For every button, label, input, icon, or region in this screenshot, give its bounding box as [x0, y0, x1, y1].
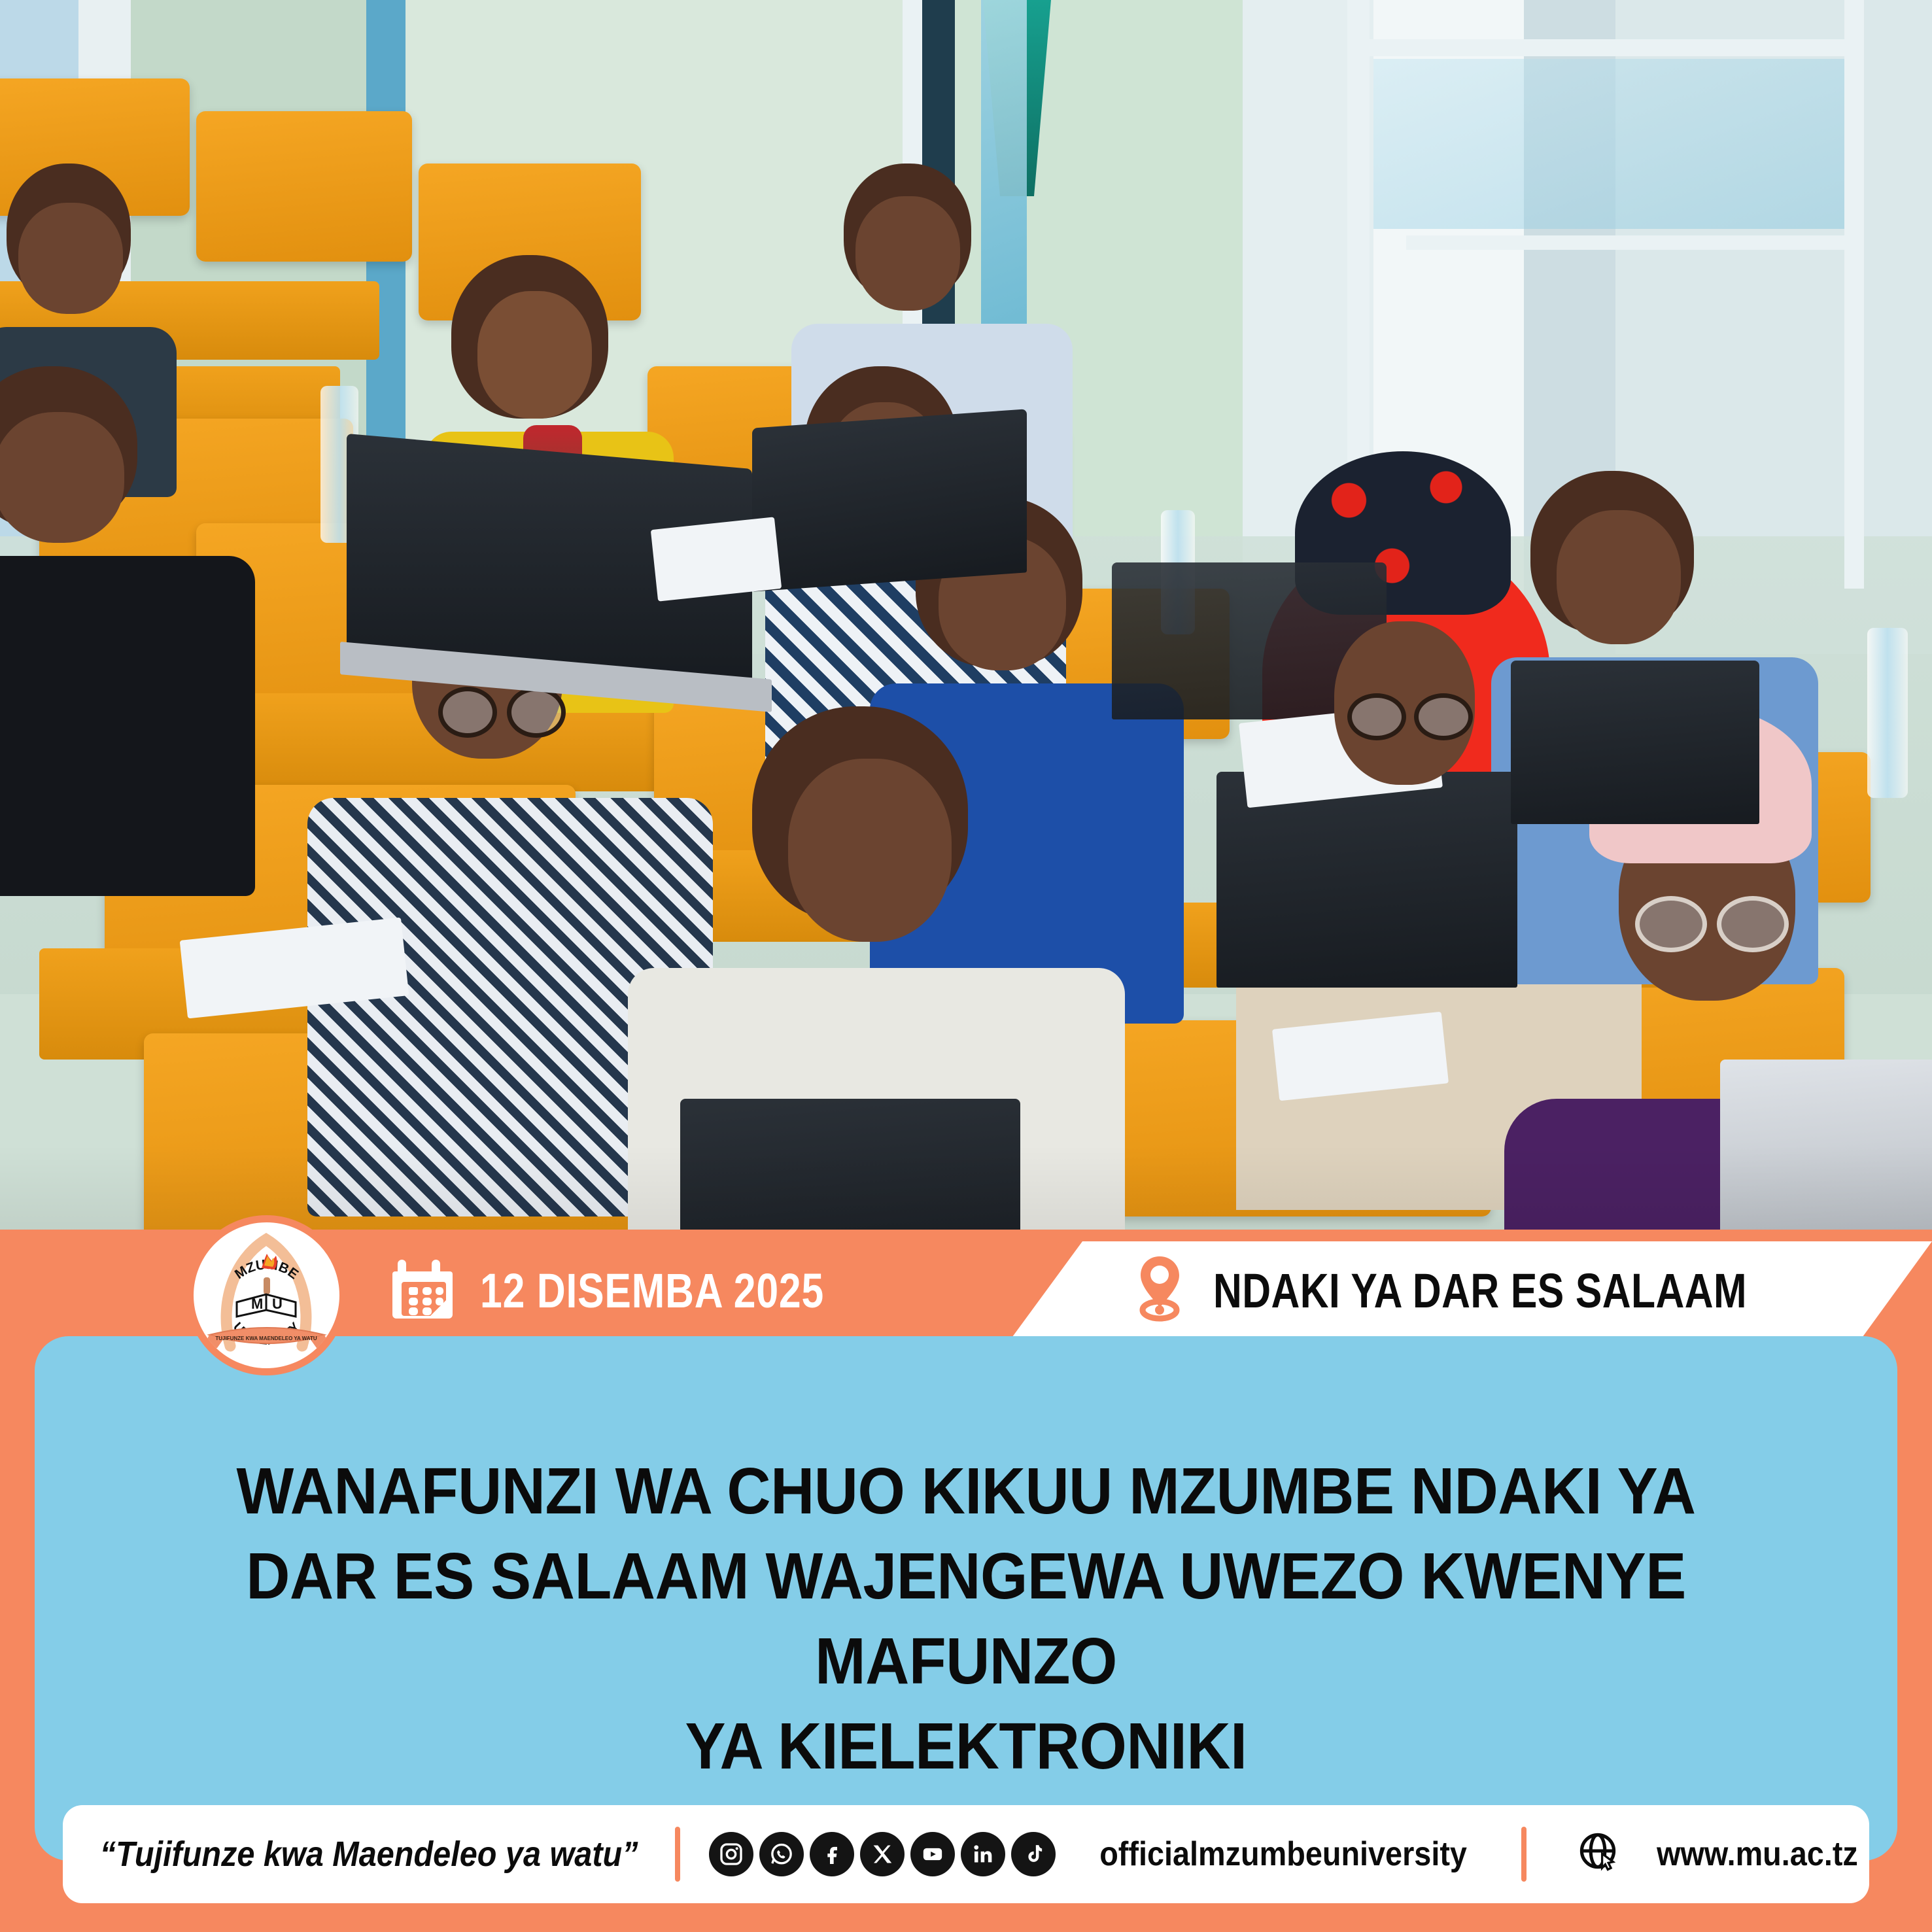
- window-frame: [1347, 39, 1844, 56]
- event-date-label: 12 DISEMBA 2025: [480, 1263, 824, 1319]
- headline-line-3: YA KIELEKTRONIKI: [153, 1704, 1780, 1789]
- whatsapp-icon[interactable]: [759, 1832, 804, 1876]
- footer-bar: “Tujifunze kwa Maendeleo ya watu”: [63, 1805, 1869, 1903]
- map-pin-icon: [1135, 1255, 1184, 1326]
- x-twitter-icon[interactable]: [860, 1832, 905, 1876]
- social-icon-row[interactable]: [709, 1832, 1056, 1876]
- laptop: [1511, 661, 1759, 824]
- facebook-icon[interactable]: [810, 1832, 854, 1876]
- calendar-icon: [392, 1257, 453, 1324]
- event-photo: [0, 0, 1932, 1302]
- paper-sheet: [651, 517, 782, 601]
- date-banner: 12 DISEMBA 2025: [0, 1241, 1060, 1339]
- window-glass: [1373, 59, 1844, 229]
- logo-initial-m: M: [251, 1296, 263, 1312]
- page-headline: WANAFUNZI WA CHUO KIKUU MZUMBE NDAKI YA …: [92, 1449, 1840, 1789]
- mzumbe-university-logo: MZUMBE M U UNIVERSITY TUJIFUNZE KWA MAEN…: [186, 1215, 347, 1375]
- youtube-icon[interactable]: [910, 1832, 955, 1876]
- logo-initial-u: U: [272, 1296, 283, 1312]
- linkedin-icon[interactable]: [961, 1832, 1005, 1876]
- laptop: [752, 409, 1027, 591]
- window-frame: [1844, 0, 1864, 589]
- website-url[interactable]: www.mu.ac.tz: [1657, 1835, 1858, 1874]
- tiktok-icon[interactable]: [1011, 1832, 1056, 1876]
- headline-line-2: DAR ES SALAAM WAJENGEWA UWEZO KWENYE MAF…: [153, 1534, 1780, 1704]
- water-bottle: [1867, 628, 1908, 798]
- window-frame: [1347, 0, 1370, 497]
- headline-line-1: WANAFUNZI WA CHUO KIKUU MZUMBE NDAKI YA: [153, 1449, 1780, 1534]
- logo-ribbon-text: TUJIFUNZE KWA MAENDELEO YA WATU: [215, 1336, 317, 1341]
- footer-divider: [1521, 1827, 1527, 1882]
- instagram-icon[interactable]: [709, 1832, 753, 1876]
- social-handle: officialmzumbeuniversity: [1099, 1835, 1467, 1874]
- auditorium-seat: [196, 111, 412, 262]
- location-banner: NDAKI YA DAR ES SALAAM: [1010, 1241, 1932, 1339]
- footer-divider: [675, 1827, 680, 1882]
- university-motto: “Tujifunze kwa Maendeleo ya watu”: [100, 1834, 638, 1874]
- globe-icon: [1576, 1829, 1623, 1880]
- event-location-label: NDAKI YA DAR ES SALAAM: [1213, 1263, 1747, 1319]
- window-frame: [1406, 235, 1864, 250]
- attendee: [0, 366, 255, 896]
